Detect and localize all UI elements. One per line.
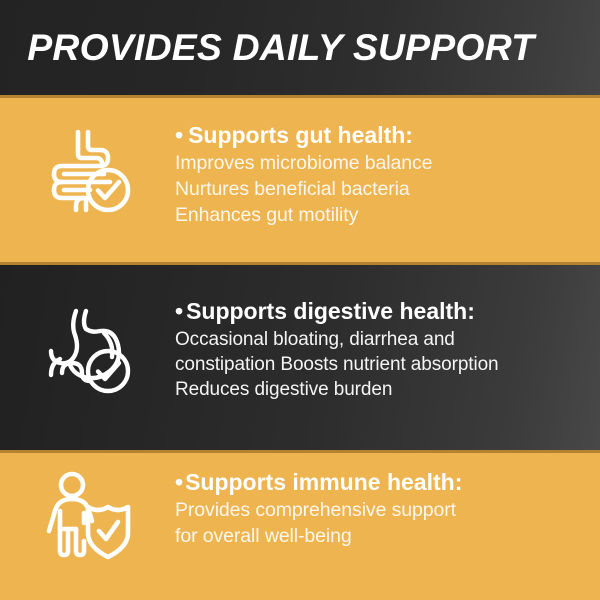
section-heading-gut: •Supports gut health: <box>175 122 590 149</box>
icon-wrap-immune <box>0 453 175 563</box>
stomach-check-icon <box>42 303 134 395</box>
detail-line: Enhances gut motility <box>175 203 590 229</box>
detail-line: for overall well-being <box>175 524 590 550</box>
person-shield-check-icon <box>40 467 136 563</box>
detail-line: Nurtures beneficial bacteria <box>175 177 590 203</box>
detail-line: Improves microbiome balance <box>175 151 590 177</box>
detail-line: Occasional bloating, diarrhea and <box>175 327 590 352</box>
section-gut-health: •Supports gut health: Improves microbiom… <box>0 95 600 262</box>
header-band: PROVIDES DAILY SUPPORT <box>0 0 600 95</box>
infographic-container: PROVIDES DAILY SUPPORT <box>0 0 600 600</box>
text-wrap-gut: •Supports gut health: Improves microbiom… <box>175 98 600 228</box>
section-heading-text: Supports immune health: <box>185 469 462 495</box>
check-mark-icon <box>99 522 118 539</box>
intestine-check-icon <box>42 124 134 216</box>
bullet-icon: • <box>175 122 183 149</box>
text-wrap-immune: •Supports immune health: Provides compre… <box>175 453 600 550</box>
section-heading-digestive: •Supports digestive health: <box>175 298 590 325</box>
detail-line: constipation Boosts nutrient absorption <box>175 352 590 377</box>
detail-line: Reduces digestive burden <box>175 377 590 402</box>
icon-wrap-gut <box>0 98 175 216</box>
check-badge-circle <box>88 170 128 210</box>
check-mark-icon <box>98 182 119 198</box>
section-immune-health: •Supports immune health: Provides compre… <box>0 450 600 600</box>
page-title: PROVIDES DAILY SUPPORT <box>0 29 534 66</box>
text-wrap-digestive: •Supports digestive health: Occasional b… <box>175 265 600 402</box>
bullet-icon: • <box>175 298 183 325</box>
section-heading-text: Supports gut health: <box>188 122 413 148</box>
shield-icon <box>88 507 128 557</box>
icon-wrap-digestive <box>0 265 175 395</box>
section-digestive-health: •Supports digestive health: Occasional b… <box>0 262 600 450</box>
detail-line: Provides comprehensive support <box>175 498 590 524</box>
bullet-icon: • <box>175 469 183 496</box>
section-heading-text: Supports digestive health: <box>186 298 475 324</box>
section-heading-immune: •Supports immune health: <box>175 469 590 496</box>
